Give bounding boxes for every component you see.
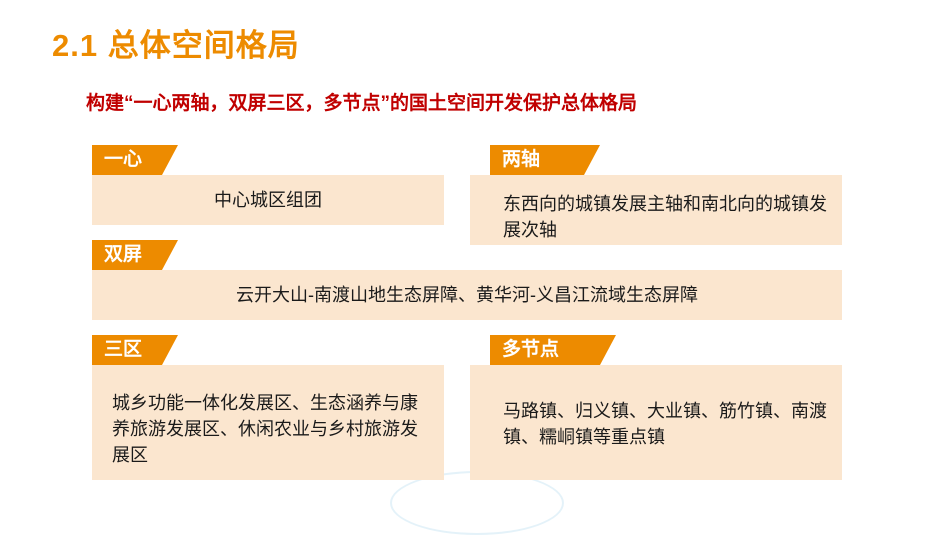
tag-sanqu: 三区 — [92, 335, 178, 365]
tag-duojiedian: 多节点 — [490, 335, 616, 365]
decorative-watermark — [390, 471, 564, 535]
text-sanqu: 城乡功能一体化发展区、生态涵养与康养旅游发展区、休闲农业与乡村旅游发展区 — [112, 390, 432, 468]
tag-liangzhou: 两轴 — [490, 145, 600, 175]
text-liangzhou: 东西向的城镇发展主轴和南北向的城镇发展次轴 — [503, 191, 833, 243]
text-duojiedian: 马路镇、归义镇、大业镇、筋竹镇、南渡镇、糯峒镇等重点镇 — [503, 398, 833, 450]
slide-subtitle: 构建“一心两轴，双屏三区，多节点”的国土空间开发保护总体格局 — [86, 88, 637, 115]
tag-shuangping: 双屏 — [92, 240, 178, 270]
slide-canvas: 2.1 总体空间格局 构建“一心两轴，双屏三区，多节点”的国土空间开发保护总体格… — [0, 0, 931, 495]
tag-yixin: 一心 — [92, 145, 178, 175]
page-title: 2.1 总体空间格局 — [52, 20, 300, 65]
text-shuangping: 云开大山-南渡山地生态屏障、黄华河-义昌江流域生态屏障 — [92, 282, 842, 308]
text-yixin: 中心城区组团 — [92, 187, 444, 213]
